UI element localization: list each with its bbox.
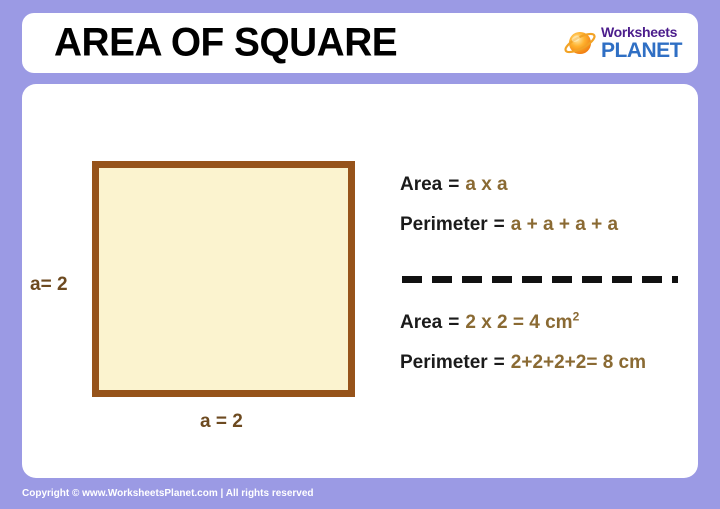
formula-equals: = (488, 214, 511, 236)
dashed-divider (402, 276, 678, 283)
footer-copyright: Copyright © www.WorksheetsPlanet.com | A… (22, 488, 314, 499)
formula-expression: a x a (465, 174, 507, 196)
formula-label: Perimeter (400, 352, 488, 374)
formula-label: Perimeter (400, 214, 488, 236)
formula-exponent: 2 (573, 310, 580, 324)
main-content-card: a= 2 a = 2 Area = a x a Perimeter = a + … (22, 84, 698, 478)
formula-row-area-general: Area = a x a (400, 174, 508, 196)
formula-row-area-solved: Area = 2 x 2 = 4 cm2 (400, 312, 579, 334)
square-shape (92, 161, 355, 397)
formula-equals: = (442, 174, 465, 196)
square-figure: a= 2 a = 2 (22, 84, 392, 478)
formula-expression: a + a + a + a (511, 214, 618, 236)
formula-equals: = (442, 312, 465, 334)
logo-line-worksheets: Worksheets (601, 25, 682, 39)
formula-row-perimeter-general: Perimeter = a + a + a + a (400, 214, 618, 236)
logo-line-planet: PLANET (601, 40, 682, 61)
formula-equals: = (488, 352, 511, 374)
logo-text: Worksheets PLANET (601, 25, 682, 61)
formula-row-perimeter-solved: Perimeter = 2+2+2+2= 8 cm (400, 352, 646, 374)
formula-panel: Area = a x a Perimeter = a + a + a + a A… (400, 84, 698, 478)
square-side-label-left: a= 2 (30, 274, 68, 296)
square-side-label-bottom: a = 2 (200, 411, 243, 433)
footer-bar: Copyright © www.WorksheetsPlanet.com | A… (0, 478, 720, 509)
formula-label: Area (400, 312, 442, 334)
brand-logo[interactable]: Worksheets PLANET (563, 25, 682, 61)
formula-label: Area (400, 174, 442, 196)
formula-expression-text: 2 x 2 = 4 cm (465, 312, 572, 333)
formula-expression: 2 x 2 = 4 cm2 (465, 312, 579, 334)
header-card: AREA OF SQUARE Worksheets PLANET (22, 13, 698, 73)
formula-expression: 2+2+2+2= 8 cm (511, 352, 646, 374)
page-title: AREA OF SQUARE (54, 21, 397, 66)
planet-icon (563, 26, 597, 60)
